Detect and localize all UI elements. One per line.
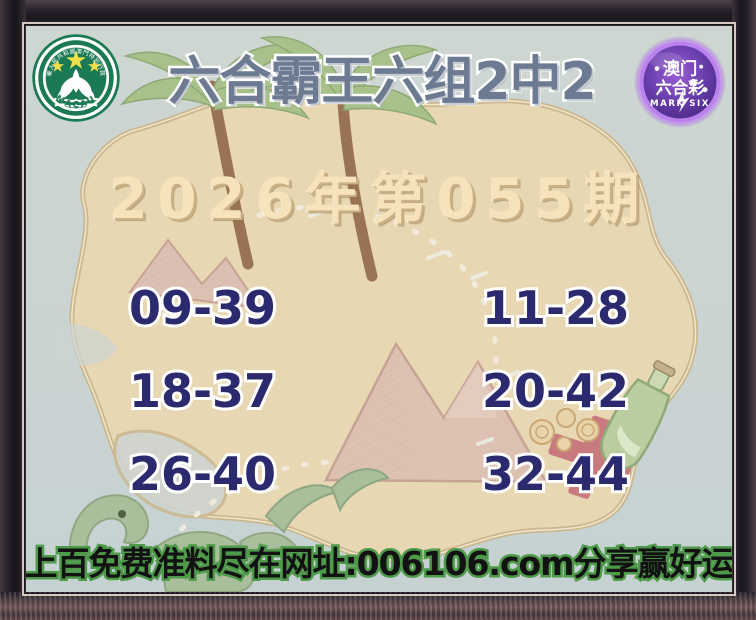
poster-header: 中華人民共和國澳門特別行政區 MACAU 六合霸王六组2中2: [26, 26, 732, 118]
number-pair: 20-42: [379, 349, 732, 432]
page-title: 六合霸王六组2中2: [122, 40, 642, 112]
period-label: 2026年第055期: [26, 154, 732, 235]
macau-emblem-svg: 中華人民共和國澳門特別行政區 MACAU: [30, 32, 122, 124]
mark-six-badge-icon: 澳门 六合彩 MARK SIX: [632, 34, 728, 130]
poster-canvas: 中華人民共和國澳門特別行政區 MACAU 六合霸王六组2中2: [26, 26, 732, 592]
mark-six-badge-svg: 澳门 六合彩 MARK SIX: [632, 34, 728, 130]
macau-emblem-icon: 中華人民共和國澳門特別行政區 MACAU: [30, 32, 122, 124]
badge-line2: 六合彩: [656, 79, 706, 98]
promo-text: 上百免费准料尽在网址:006106.com分享赢好运: [26, 536, 732, 586]
number-pair: 18-37: [26, 349, 379, 432]
number-pairs-grid: 09-39 11-28 18-37 20-42 26-40 32-44: [26, 266, 732, 516]
number-pair: 32-44: [379, 433, 732, 516]
number-pair: 26-40: [26, 433, 379, 516]
badge-line1: 澳门: [663, 58, 698, 79]
number-pair: 11-28: [379, 266, 732, 349]
frame-bottom-rail: [0, 592, 756, 620]
poster-stage: 中華人民共和國澳門特別行政區 MACAU 六合霸王六组2中2: [0, 0, 756, 620]
number-pair: 09-39: [26, 266, 379, 349]
